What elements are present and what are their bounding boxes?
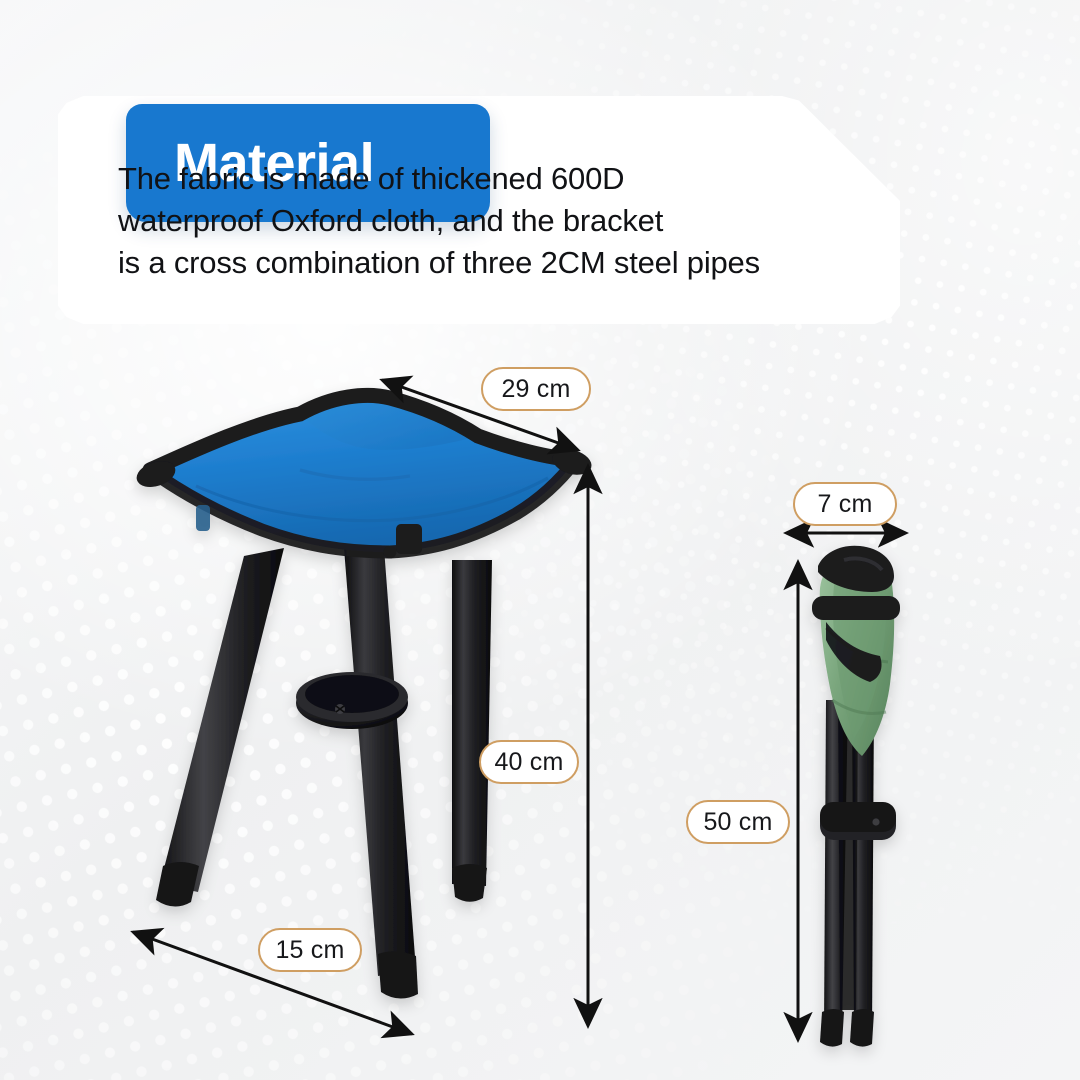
dimension-label-15cm: 15 cm bbox=[258, 928, 362, 972]
infographic-canvas: Material The fabric is made of thickened… bbox=[0, 0, 1080, 1080]
product-illustrations bbox=[0, 0, 1080, 1080]
dimension-label-50cm: 50 cm bbox=[686, 800, 790, 844]
stool-leg-rear bbox=[452, 560, 492, 902]
stool-hub-ring bbox=[296, 672, 408, 729]
dimension-label-29cm: 29 cm bbox=[481, 367, 591, 411]
dimension-label-40cm: 40 cm bbox=[479, 740, 579, 784]
stool-leg-left bbox=[156, 548, 284, 907]
folded-stool-illustration bbox=[812, 546, 900, 1047]
open-stool-illustration bbox=[133, 395, 594, 998]
stool-leg-front bbox=[344, 548, 418, 999]
dimension-label-7cm: 7 cm bbox=[793, 482, 897, 526]
folded-hub-ring bbox=[820, 802, 896, 840]
stool-seat bbox=[150, 395, 576, 552]
